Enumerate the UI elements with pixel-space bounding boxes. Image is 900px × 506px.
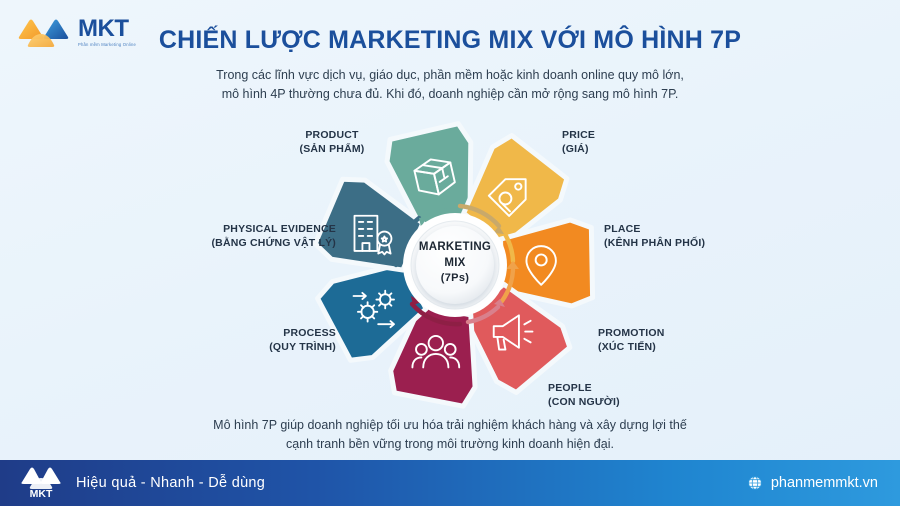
segment-label-people: PEOPLE (CON NGƯỜI) [548, 381, 698, 409]
segment-label-promotion-title: PROMOTION [598, 327, 665, 339]
segment-label-product-title: PRODUCT [305, 129, 358, 141]
segment-label-promotion-sub: (XÚC TIẾN) [598, 341, 656, 353]
page-title: CHIẾN LƯỢC MARKETING MIX VỚI MÔ HÌNH 7P [0, 26, 900, 55]
segment-label-product: PRODUCT (SẢN PHẨM) [272, 128, 392, 156]
segment-label-price: PRICE (GIÁ) [562, 128, 712, 156]
hub-label: MARKETING MIX (7Ps) [405, 240, 505, 287]
subtitle: Trong các lĩnh vực dịch vụ, giáo dục, ph… [150, 66, 750, 105]
segment-label-physical-evidence-title: PHYSICAL EVIDENCE [223, 223, 336, 235]
footnote-line-2: cạnh tranh bền vững trong môi trường kin… [286, 437, 614, 451]
footer-bar: MKT Hiệu quả - Nhanh - Dễ dùng phanmemmk… [0, 460, 900, 506]
footer-website-label: phanmemmkt.vn [771, 475, 878, 491]
footnote-line-1: Mô hình 7P giúp doanh nghiệp tối ưu hóa … [213, 418, 687, 432]
segment-label-physical-evidence-sub: (BẰNG CHỨNG VẬT LÝ) [211, 237, 336, 249]
segment-label-process: PROCESS (QUY TRÌNH) [196, 326, 336, 354]
segment-label-process-sub: (QUY TRÌNH) [269, 341, 336, 353]
segment-label-product-sub: (SẢN PHẨM) [300, 143, 365, 155]
hub-label-line-3: (7Ps) [441, 272, 469, 284]
footnote: Mô hình 7P giúp doanh nghiệp tối ưu hóa … [150, 416, 750, 455]
svg-text:MKT: MKT [30, 488, 53, 500]
segment-label-process-title: PROCESS [283, 327, 336, 339]
subtitle-line-2: mô hình 4P thường chưa đủ. Khi đó, doanh… [222, 87, 679, 101]
segment-label-promotion: PROMOTION (XÚC TIẾN) [598, 326, 758, 354]
segment-label-physical-evidence: PHYSICAL EVIDENCE (BẰNG CHỨNG VẬT LÝ) [140, 222, 336, 250]
globe-icon [747, 475, 763, 491]
subtitle-line-1: Trong các lĩnh vực dịch vụ, giáo dục, ph… [216, 68, 684, 82]
footer-website[interactable]: phanmemmkt.vn [747, 475, 878, 491]
segment-label-place-title: PLACE [604, 223, 641, 235]
segment-label-price-title: PRICE [562, 129, 595, 141]
hub-label-line-2: MIX [444, 257, 465, 269]
segment-label-place-sub: (KÊNH PHÂN PHỐI) [604, 237, 705, 249]
segment-label-price-sub: (GIÁ) [562, 143, 589, 155]
mkt-footer-logo-icon: MKT [18, 465, 64, 501]
footer-slogan: Hiệu quả - Nhanh - Dễ dùng [76, 475, 265, 491]
infographic-canvas: MKT Phần mềm Marketing Online CHIẾN LƯỢC… [0, 0, 900, 506]
segment-label-people-sub: (CON NGƯỜI) [548, 396, 620, 408]
segment-label-people-title: PEOPLE [548, 382, 592, 394]
hub-label-line-1: MARKETING [419, 241, 491, 253]
segment-label-place: PLACE (KÊNH PHÂN PHỐI) [604, 222, 774, 250]
